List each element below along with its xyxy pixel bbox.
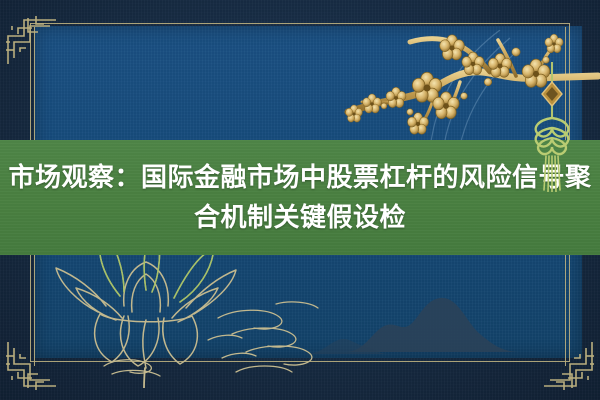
title-line-1: 市场观察：国际金融市场中股票杠杆的风险信号聚 bbox=[8, 158, 591, 198]
corner-fret-ornament-bottom-right-icon bbox=[540, 338, 596, 394]
mountain-silhouette-icon bbox=[306, 248, 566, 358]
corner-fret-ornament-top-left-icon bbox=[4, 12, 60, 68]
decorative-banner: 市场观察：国际金融市场中股票杠杆的风险信号聚 合机制关键假设检 bbox=[0, 0, 600, 400]
chinese-knot-icon bbox=[526, 62, 578, 192]
title-line-2: 合机制关键假设检 bbox=[194, 198, 406, 238]
corner-fret-ornament-bottom-left-icon bbox=[4, 338, 60, 394]
banner-title: 市场观察：国际金融市场中股票杠杆的风险信号聚 合机制关键假设检 bbox=[0, 140, 600, 255]
